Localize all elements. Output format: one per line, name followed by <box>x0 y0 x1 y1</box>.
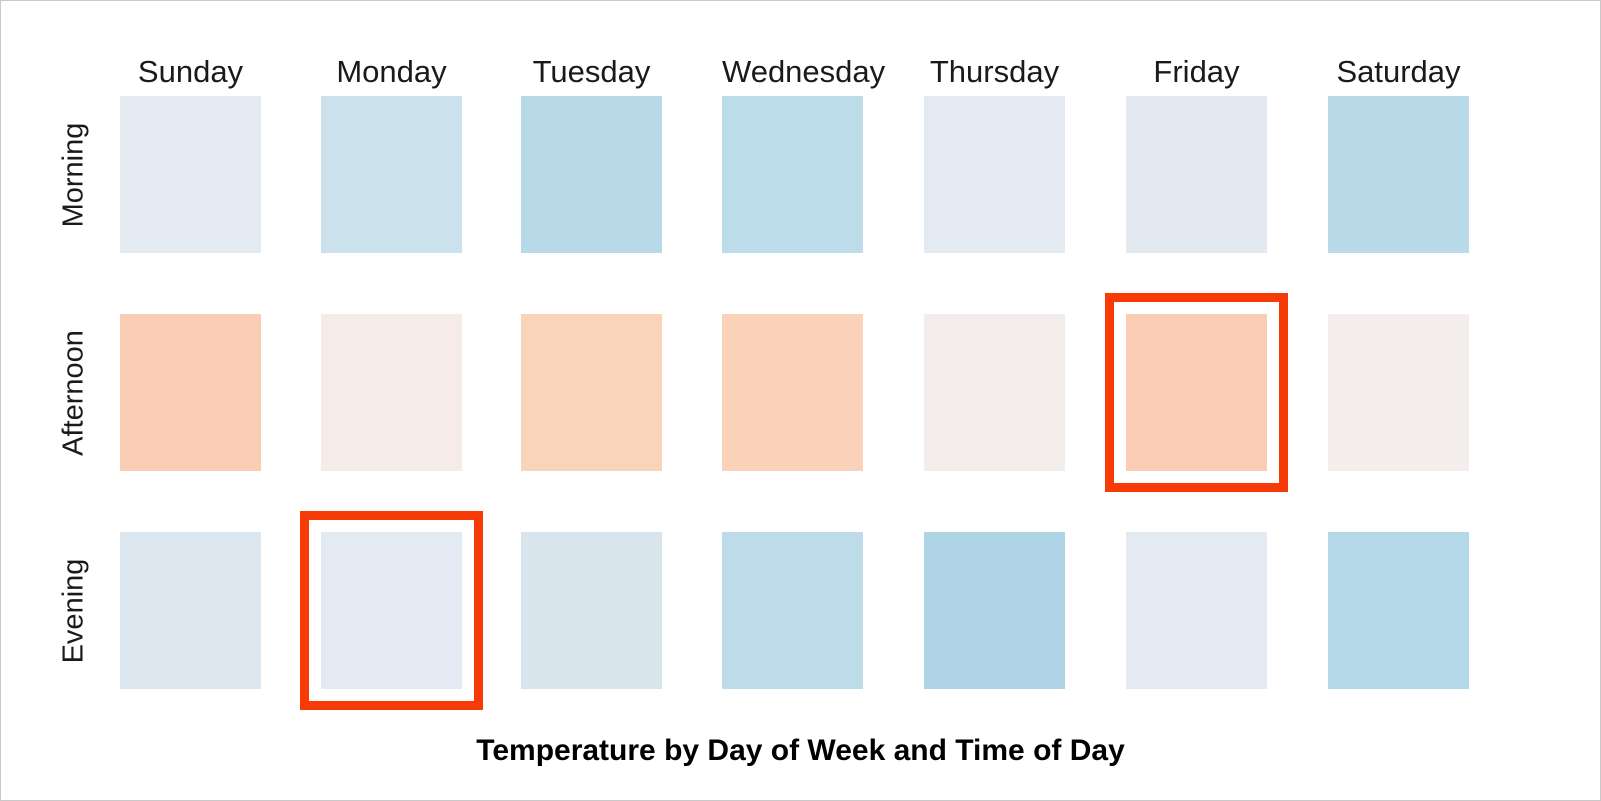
heatmap-cell-afternoon-sunday[interactable] <box>120 314 261 471</box>
heatmap-cell-evening-saturday[interactable] <box>1328 532 1469 689</box>
column-header-wednesday: Wednesday <box>722 56 863 87</box>
heatmap-cell-evening-friday[interactable] <box>1126 532 1267 689</box>
heatmap-cell-evening-wednesday[interactable] <box>722 532 863 689</box>
column-header-thursday: Thursday <box>924 56 1065 87</box>
heatmap-cell-morning-thursday[interactable] <box>924 96 1065 253</box>
row-header-afternoon: Afternoon <box>56 314 90 471</box>
heatmap-cell-evening-monday[interactable] <box>321 532 462 689</box>
heatmap-cell-evening-tuesday[interactable] <box>521 532 662 689</box>
heatmap-cell-afternoon-monday[interactable] <box>321 314 462 471</box>
heatmap-cell-evening-sunday[interactable] <box>120 532 261 689</box>
column-header-sunday: Sunday <box>120 56 261 87</box>
heatmap-cell-afternoon-thursday[interactable] <box>924 314 1065 471</box>
row-header-morning: Morning <box>56 96 90 253</box>
heatmap-cell-morning-wednesday[interactable] <box>722 96 863 253</box>
heatmap-cell-morning-sunday[interactable] <box>120 96 261 253</box>
heatmap-cell-afternoon-wednesday[interactable] <box>722 314 863 471</box>
heatmap-cell-morning-saturday[interactable] <box>1328 96 1469 253</box>
column-header-tuesday: Tuesday <box>521 56 662 87</box>
row-header-evening: Evening <box>56 532 90 689</box>
column-header-monday: Monday <box>321 56 462 87</box>
heatmap-cell-morning-monday[interactable] <box>321 96 462 253</box>
column-header-saturday: Saturday <box>1328 56 1469 87</box>
heatmap-cell-afternoon-saturday[interactable] <box>1328 314 1469 471</box>
chart-title: Temperature by Day of Week and Time of D… <box>1 736 1600 766</box>
heatmap-cell-morning-friday[interactable] <box>1126 96 1267 253</box>
heatmap-cell-evening-thursday[interactable] <box>924 532 1065 689</box>
heatmap-cell-morning-tuesday[interactable] <box>521 96 662 253</box>
heatmap-cell-afternoon-friday[interactable] <box>1126 314 1267 471</box>
heatmap-cell-afternoon-tuesday[interactable] <box>521 314 662 471</box>
column-header-friday: Friday <box>1126 56 1267 87</box>
heatmap-chart-container: SundayMondayTuesdayWednesdayThursdayFrid… <box>0 0 1601 801</box>
